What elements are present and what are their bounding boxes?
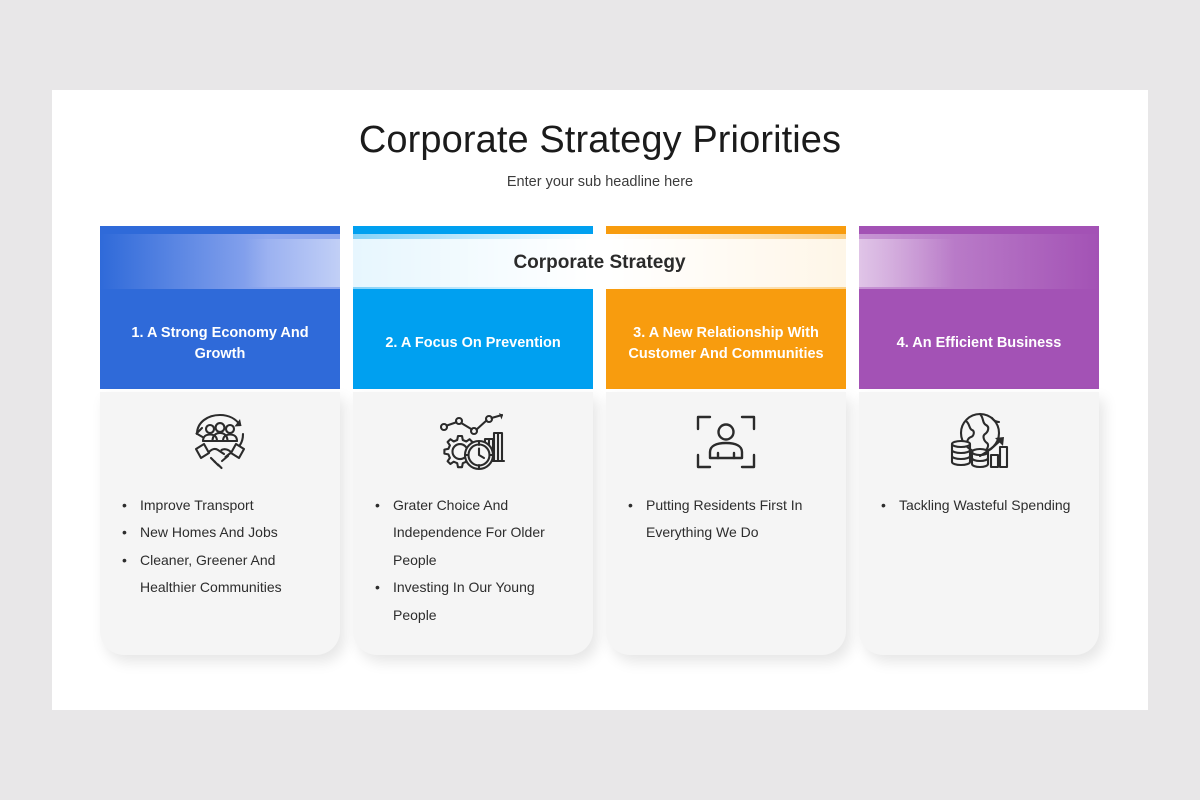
column-heading-2: 2. A Focus On Prevention	[361, 298, 585, 389]
column-header-2: 2. A Focus On Prevention	[353, 226, 593, 389]
list-item: Improve Transport	[122, 492, 326, 519]
column-body-1: Improve Transport New Homes And Jobs Cle…	[100, 392, 340, 655]
page-title: Corporate Strategy Priorities	[52, 119, 1148, 162]
column-heading-4: 4. An Efficient Business	[867, 298, 1091, 389]
bullet-list-4: Tackling Wasteful Spending	[859, 492, 1099, 519]
strategy-column-4[interactable]: 4. An Efficient Business	[859, 226, 1099, 655]
bullet-list-2: Grater Choice And Independence For Older…	[353, 492, 593, 629]
column-body-4: Tackling Wasteful Spending	[859, 392, 1099, 655]
list-item: Investing In Our Young People	[375, 574, 579, 629]
gear-clock-analytics-icon	[353, 392, 593, 492]
column-header-4: 4. An Efficient Business	[859, 226, 1099, 389]
column-heading-3: 3. A New Relationship With Customer And …	[614, 298, 838, 389]
header-gradient-band-3	[606, 234, 846, 289]
list-item: New Homes And Jobs	[122, 519, 326, 546]
column-header-1: 1. A Strong Economy And Growth	[100, 226, 340, 389]
strategy-column-1[interactable]: 1. A Strong Economy And Growth	[100, 226, 340, 655]
list-item: Putting Residents First In Everything We…	[628, 492, 832, 547]
page-subtitle: Enter your sub headline here	[52, 174, 1148, 190]
column-body-2: Grater Choice And Independence For Older…	[353, 392, 593, 655]
globe-coins-growth-icon	[859, 392, 1099, 492]
header-gradient-band-1	[100, 234, 340, 289]
column-heading-1: 1. A Strong Economy And Growth	[108, 298, 332, 389]
column-body-3: Putting Residents First In Everything We…	[606, 392, 846, 655]
strategy-column-3[interactable]: 3. A New Relationship With Customer And …	[606, 226, 846, 655]
header-gradient-band-4	[859, 234, 1099, 289]
column-header-3: 3. A New Relationship With Customer And …	[606, 226, 846, 389]
list-item: Cleaner, Greener And Healthier Communiti…	[122, 547, 326, 602]
person-focus-frame-icon	[606, 392, 846, 492]
bullet-list-3: Putting Residents First In Everything We…	[606, 492, 846, 547]
list-item: Tackling Wasteful Spending	[881, 492, 1085, 519]
bullet-list-1: Improve Transport New Homes And Jobs Cle…	[100, 492, 340, 602]
list-item: Grater Choice And Independence For Older…	[375, 492, 579, 574]
header-gradient-band-2	[353, 234, 593, 289]
strategy-column-2[interactable]: 2. A Focus On Prevention	[353, 226, 593, 655]
handshake-teamwork-icon	[100, 392, 340, 492]
slide-canvas: Corporate Strategy Priorities Enter your…	[52, 90, 1148, 710]
